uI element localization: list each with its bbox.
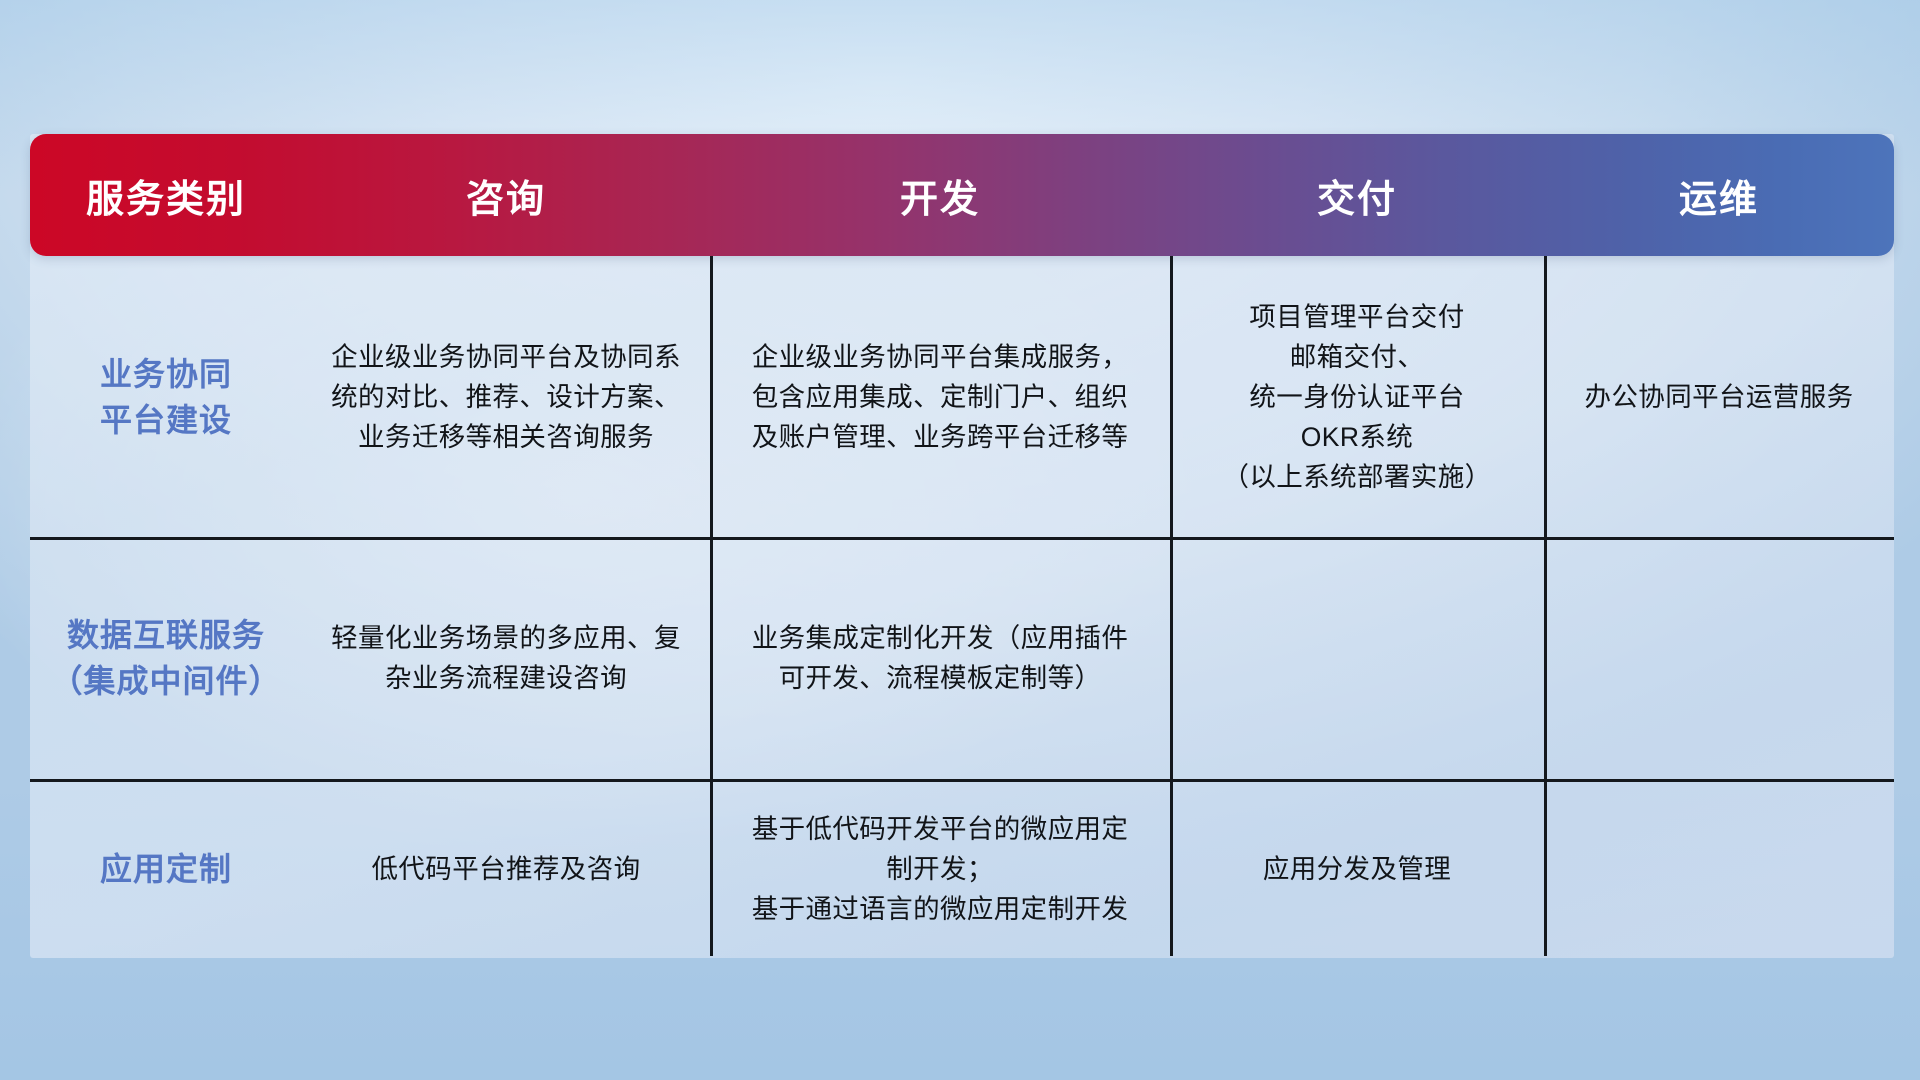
table-row-label-cell: 数据互联服务 （集成中间件） — [30, 537, 302, 779]
service-matrix-table: 服务类别 咨询 开发 交付 运维 业务协同 平台建设 企业级业务协同平台及协同系… — [30, 134, 1894, 958]
row-label-text: 数据互联服务 （集成中间件） — [50, 612, 281, 704]
cell-text: 企业级业务协同平台集成服务， 包含应用集成、定制门户、组织 及账户管理、业务跨平… — [752, 337, 1129, 457]
table-row: 数据互联服务 （集成中间件） 轻量化业务场景的多应用、复 杂业务流程建设咨询 业… — [30, 537, 1894, 779]
cell-text: 企业级业务协同平台及协同系 统的对比、推荐、设计方案、 业务迁移等相关咨询服务 — [331, 337, 681, 457]
table-cell-development: 企业级业务协同平台集成服务， 包含应用集成、定制门户、组织 及账户管理、业务跨平… — [710, 256, 1170, 537]
table-row-label-cell: 应用定制 — [30, 779, 302, 958]
table-cell-development: 业务集成定制化开发（应用插件 可开发、流程模板定制等） — [710, 537, 1170, 779]
table-cell-operations — [1544, 537, 1894, 779]
table-cell-consulting: 企业级业务协同平台及协同系 统的对比、推荐、设计方案、 业务迁移等相关咨询服务 — [302, 256, 710, 537]
table-cell-delivery: 项目管理平台交付 邮箱交付、 统一身份认证平台 OKR系统 （以上系统部署实施） — [1170, 256, 1544, 537]
table-cell-consulting: 轻量化业务场景的多应用、复 杂业务流程建设咨询 — [302, 537, 710, 779]
slide-root: 服务类别 咨询 开发 交付 运维 业务协同 平台建设 企业级业务协同平台及协同系… — [0, 0, 1920, 1080]
cell-text: 业务集成定制化开发（应用插件 可开发、流程模板定制等） — [752, 618, 1129, 698]
cell-text: 项目管理平台交付 邮箱交付、 统一身份认证平台 OKR系统 （以上系统部署实施） — [1223, 297, 1492, 497]
cell-text: 办公协同平台运营服务 — [1585, 377, 1854, 417]
table-row-label-cell: 业务协同 平台建设 — [30, 256, 302, 537]
cell-text: 基于低代码开发平台的微应用定 制开发； 基于通过语言的微应用定制开发 — [752, 809, 1129, 929]
table-row: 应用定制 低代码平台推荐及咨询 基于低代码开发平台的微应用定 制开发； 基于通过… — [30, 779, 1894, 958]
row-label-text: 业务协同 平台建设 — [100, 351, 232, 443]
table-header-cell-category: 服务类别 — [30, 168, 302, 223]
table-cell-delivery: 应用分发及管理 — [1170, 779, 1544, 958]
table-header-cell-operations: 运维 — [1544, 168, 1894, 223]
table-header-row: 服务类别 咨询 开发 交付 运维 — [30, 134, 1894, 256]
table-cell-delivery — [1170, 537, 1544, 779]
table-row: 业务协同 平台建设 企业级业务协同平台及协同系 统的对比、推荐、设计方案、 业务… — [30, 256, 1894, 537]
table-cell-development: 基于低代码开发平台的微应用定 制开发； 基于通过语言的微应用定制开发 — [710, 779, 1170, 958]
table-cell-operations — [1544, 779, 1894, 958]
cell-text: 应用分发及管理 — [1263, 849, 1451, 889]
row-label-text: 应用定制 — [100, 846, 232, 892]
table-header-cell-consulting: 咨询 — [302, 168, 710, 223]
table-header-cell-delivery: 交付 — [1170, 168, 1544, 223]
table-header-cell-development: 开发 — [710, 168, 1170, 223]
table-cell-consulting: 低代码平台推荐及咨询 — [302, 779, 710, 958]
cell-text: 轻量化业务场景的多应用、复 杂业务流程建设咨询 — [331, 618, 681, 698]
cell-text: 低代码平台推荐及咨询 — [372, 849, 641, 889]
table-body: 业务协同 平台建设 企业级业务协同平台及协同系 统的对比、推荐、设计方案、 业务… — [30, 256, 1894, 958]
table-cell-operations: 办公协同平台运营服务 — [1544, 256, 1894, 537]
